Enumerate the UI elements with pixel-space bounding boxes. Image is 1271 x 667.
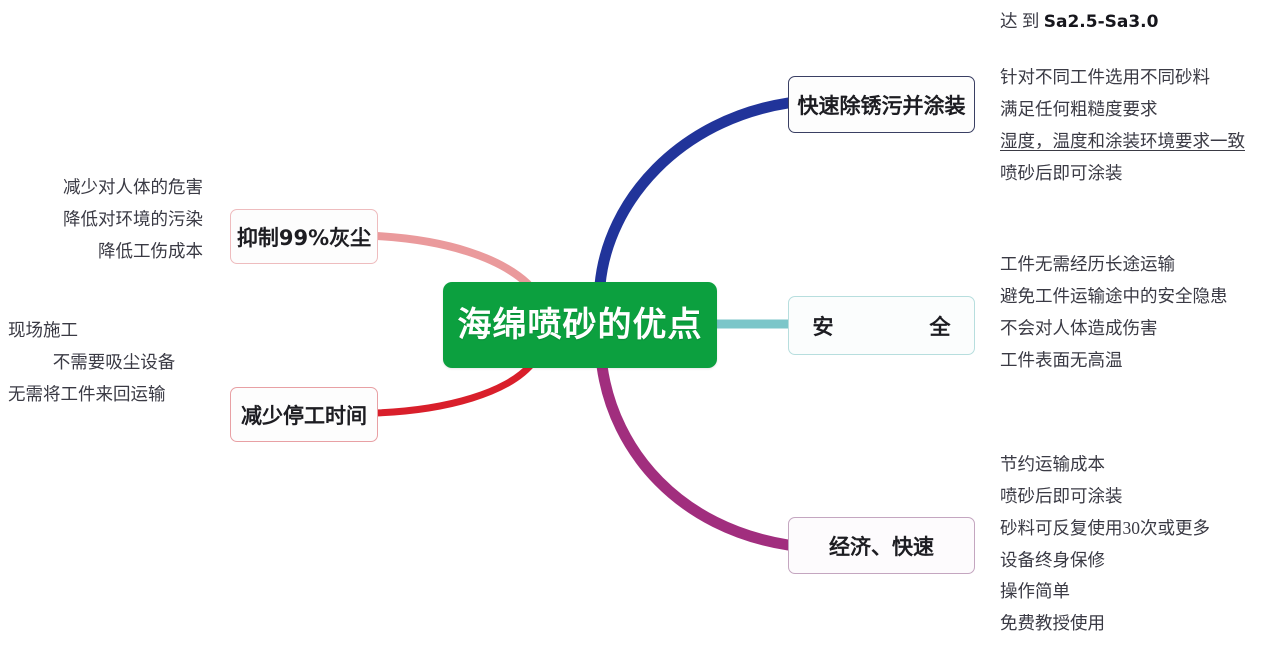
branch-node-safety[interactable]: 安 全: [788, 296, 975, 355]
branch-node-dust-label: 抑制99%灰尘: [237, 222, 371, 252]
detail-item: 不需要吸尘设备: [8, 347, 206, 379]
detail-item: 工件表面无高温: [1000, 345, 1262, 377]
center-node-label: 海绵喷砂的优点: [458, 308, 703, 342]
detail-group-rust: 针对不同工件选用不同砂料 满足任何粗糙度要求 湿度，温度和涂装环境要求一致 喷砂…: [1000, 62, 1262, 189]
detail-item: 针对不同工件选用不同砂料: [1000, 62, 1262, 94]
detail-grade-line: 达 到 Sa2.5-Sa3.0: [1000, 6, 1262, 38]
detail-item: 湿度，温度和涂装环境要求一致: [1000, 126, 1262, 158]
center-node[interactable]: 海绵喷砂的优点: [443, 282, 717, 368]
branch-node-dust[interactable]: 抑制99%灰尘: [230, 209, 378, 264]
detail-item: 减少对人体的危害: [18, 172, 203, 204]
detail-item: 操作简单: [1000, 576, 1250, 608]
connector-downtime: [376, 366, 530, 413]
branch-node-safety-label: 安 全: [795, 311, 969, 341]
detail-group-safety: 工件无需经历长途运输 避免工件运输途中的安全隐患 不会对人体造成伤害 工件表面无…: [1000, 249, 1262, 376]
detail-item: 喷砂后即可涂装: [1000, 158, 1262, 190]
detail-item: 避免工件运输途中的安全隐患: [1000, 281, 1262, 313]
branch-node-economy[interactable]: 经济、快速: [788, 517, 975, 574]
detail-item: 无需将工件来回运输: [8, 379, 206, 411]
detail-item: 降低对环境的污染: [18, 204, 203, 236]
detail-item: 砂料可反复使用30次或更多: [1000, 513, 1250, 545]
detail-grade-value: Sa2.5-Sa3.0: [1044, 12, 1159, 32]
detail-group-economy: 节约运输成本 喷砂后即可涂装 砂料可反复使用30次或更多 设备终身保修 操作简单…: [1000, 449, 1250, 640]
branch-node-downtime[interactable]: 减少停工时间: [230, 387, 378, 442]
detail-item: 节约运输成本: [1000, 449, 1250, 481]
branch-node-rust[interactable]: 快速除锈污并涂装: [788, 76, 975, 133]
branch-node-downtime-label: 减少停工时间: [241, 400, 367, 430]
detail-item: 设备终身保修: [1000, 545, 1250, 577]
detail-item: 不会对人体造成伤害: [1000, 313, 1262, 345]
detail-group-grade: 达 到 Sa2.5-Sa3.0: [1000, 6, 1262, 38]
detail-item: 喷砂后即可涂装: [1000, 481, 1250, 513]
detail-group-downtime: 现场施工 不需要吸尘设备 无需将工件来回运输: [8, 315, 206, 411]
detail-item: 现场施工: [8, 315, 206, 347]
connector-dust: [376, 236, 528, 284]
detail-grade-prefix: 达 到: [1000, 11, 1044, 31]
connector-rust: [600, 103, 788, 285]
detail-item: 免费教授使用: [1000, 608, 1250, 640]
detail-item: 满足任何粗糙度要求: [1000, 94, 1262, 126]
detail-item: 工件无需经历长途运输: [1000, 249, 1262, 281]
detail-group-dust: 减少对人体的危害 降低对环境的污染 降低工伤成本: [18, 172, 203, 268]
branch-node-rust-label: 快速除锈污并涂装: [798, 90, 966, 120]
connector-econ: [602, 366, 788, 545]
branch-node-economy-label: 经济、快速: [829, 531, 934, 561]
mindmap-canvas: 海绵喷砂的优点 快速除锈污并涂装 安 全 经济、快速 抑制99%灰尘 减少停工时…: [0, 0, 1271, 667]
detail-item: 降低工伤成本: [18, 236, 203, 268]
